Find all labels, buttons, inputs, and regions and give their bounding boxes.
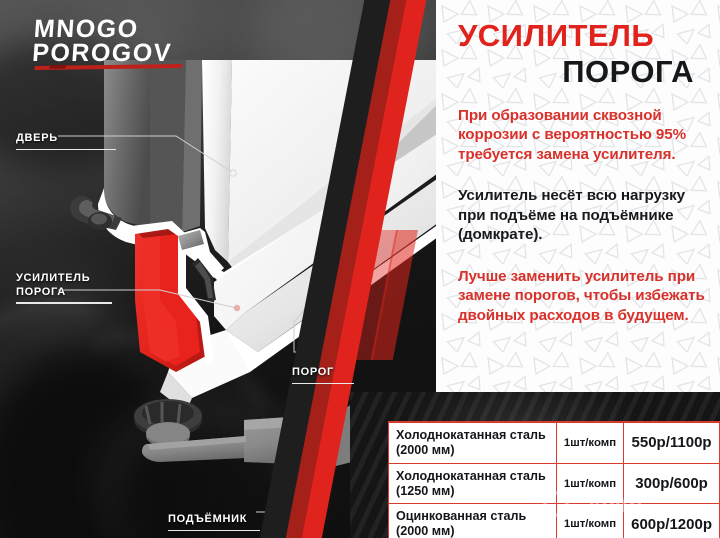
callout-text-lift: ПОДЪЁМНИК [168, 513, 247, 525]
cell-price: 600р/1200р [624, 504, 720, 538]
callout-text-sill: ПОРОГ [292, 366, 334, 378]
callout-label-door: ДВЕРЬ [16, 118, 116, 164]
callout-label-lift: ПОДЪЁМНИК [168, 499, 260, 538]
table-row: Холоднокатанная сталь (2000 мм) 1шт/комп… [389, 422, 720, 463]
cell-material: Оцинкованная сталь (2000 мм) [389, 504, 557, 538]
cell-quantity: 1шт/комп [556, 504, 623, 538]
paragraph-load: Усилитель несёт всю нагрузку при подъёме… [458, 186, 712, 244]
door-outer-skin-edge [202, 60, 232, 262]
brand-logo: MNOGO POROGOV [33, 14, 193, 72]
table-row: Холоднокатанная сталь (1250 мм) 1шт/комп… [389, 463, 720, 504]
jack-pad-base-top [146, 422, 190, 444]
cell-price: 550р/1100р [624, 422, 720, 463]
paragraph-corrosion: При образовании сквозной коррозии с веро… [458, 106, 712, 164]
callout-underline [16, 302, 112, 304]
cell-material: Холоднокатанная сталь (1250 мм) [389, 463, 557, 504]
logo-underline-notch [49, 65, 67, 69]
title-line-2: ПОРОГА [458, 56, 712, 87]
price-table: Холоднокатанная сталь (2000 мм) 1шт/комп… [388, 421, 720, 538]
seal-bulb-highlight [91, 214, 107, 225]
callout-text-door: ДВЕРЬ [16, 132, 58, 144]
callout-underline [16, 149, 116, 151]
door-inner-skin-2 [150, 60, 186, 232]
callout-text-reinforcer: УСИЛИТЕЛЬ ПОРОГА [16, 272, 90, 298]
cell-quantity: 1шт/комп [556, 463, 623, 504]
promo-card: УСИЛИТЕЛЬ ПОРОГА При образовании сквозно… [0, 0, 720, 538]
title-line-1: УСИЛИТЕЛЬ [458, 20, 712, 51]
logo-mark: MNOGO POROGOV [33, 14, 193, 72]
logo-text-line2: POROGOV [33, 39, 173, 67]
cell-material: Холоднокатанная сталь (2000 мм) [389, 422, 557, 463]
right-panel-content: УСИЛИТЕЛЬ ПОРОГА При образовании сквозно… [436, 0, 720, 325]
callout-label-sill: ПОРОГ [292, 352, 354, 398]
callout-underline [292, 383, 354, 385]
table-row: Оцинкованная сталь (2000 мм) 1шт/комп 60… [389, 504, 720, 538]
callout-label-reinforcer: УСИЛИТЕЛЬ ПОРОГА [16, 258, 112, 318]
paragraph-advice: Лучше заменить усилитель при замене поро… [458, 267, 712, 325]
cell-price: 300р/600р [624, 463, 720, 504]
page-title: УСИЛИТЕЛЬ ПОРОГА [458, 0, 712, 87]
cell-quantity: 1шт/комп [556, 422, 623, 463]
callout-underline [168, 530, 260, 532]
